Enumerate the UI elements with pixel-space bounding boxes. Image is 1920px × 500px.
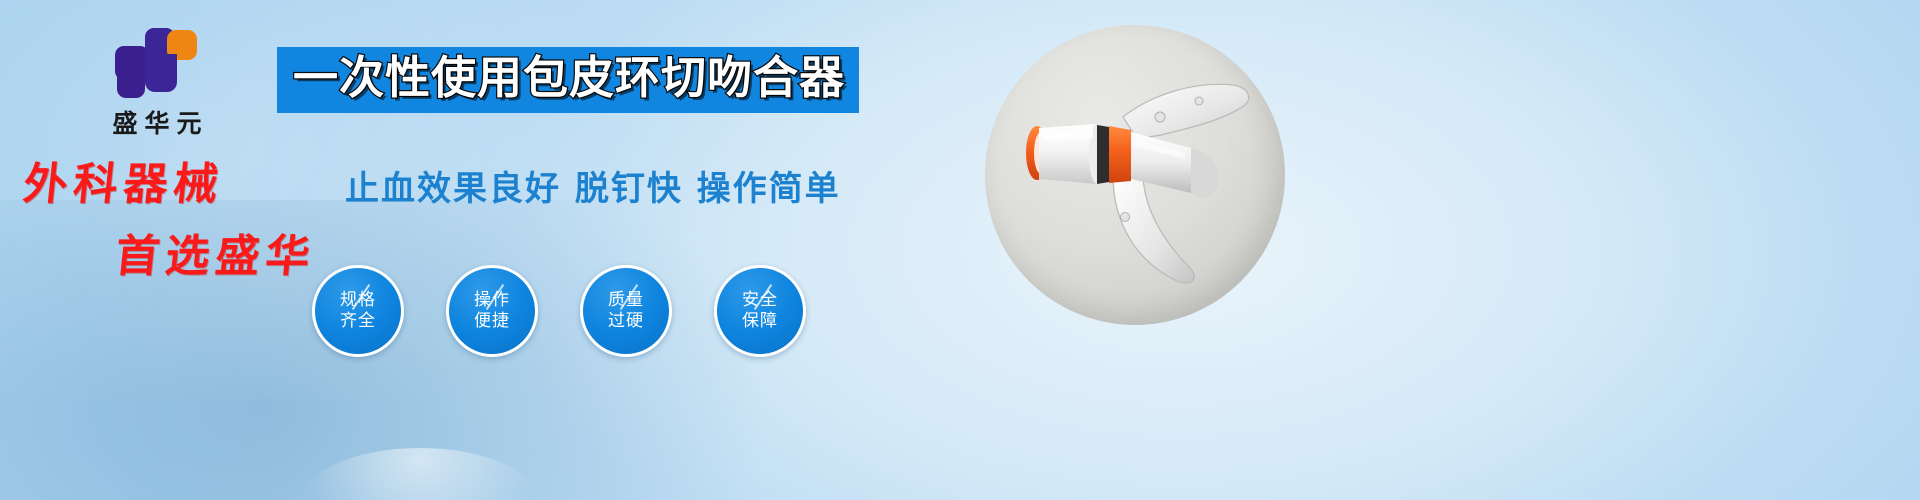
- headline-banner: 一次性使用包皮环切吻合器: [277, 47, 859, 113]
- logo-square-3: [145, 54, 177, 92]
- background-arc-bottom: [300, 448, 540, 500]
- logo-square-4: [117, 72, 145, 98]
- badge-label-line2: 便捷: [474, 311, 510, 332]
- surgical-stapler-illustration: [985, 25, 1285, 325]
- badge-label-line1: 安全: [742, 290, 778, 311]
- feature-badge-list: 规格 齐全 操作 便捷 质量 过硬 安全 保障: [312, 265, 806, 357]
- brand-name: 盛华元: [62, 104, 252, 140]
- feature-badge-1[interactable]: 规格 齐全: [312, 265, 404, 357]
- feature-badge-4[interactable]: 安全 保障: [714, 265, 806, 357]
- badge-label-line1: 规格: [340, 290, 376, 311]
- promo-banner: 盛华元 外科器械 首选盛华 一次性使用包皮环切吻合器 止血效果良好 脱钉快 操作…: [0, 0, 1920, 500]
- calligraphy-slogan: 外科器械 首选盛华: [20, 148, 360, 284]
- logo-mark-icon: [115, 28, 199, 98]
- feature-badge-2[interactable]: 操作 便捷: [446, 265, 538, 357]
- badge-label-line1: 操作: [474, 290, 510, 311]
- product-image[interactable]: [985, 25, 1285, 325]
- page-title: 一次性使用包皮环切吻合器: [293, 53, 845, 103]
- badge-label-line2: 保障: [742, 311, 778, 332]
- badge-label-line2: 过硬: [608, 311, 644, 332]
- badge-label-line2: 齐全: [340, 311, 376, 332]
- feature-badge-3[interactable]: 质量 过硬: [580, 265, 672, 357]
- subtitle-text: 止血效果良好 脱钉快 操作简单: [345, 168, 841, 210]
- brand-logo[interactable]: 盛华元: [62, 28, 252, 140]
- calligraphy-line-1: 外科器械: [21, 148, 364, 212]
- badge-label-line1: 质量: [608, 290, 644, 311]
